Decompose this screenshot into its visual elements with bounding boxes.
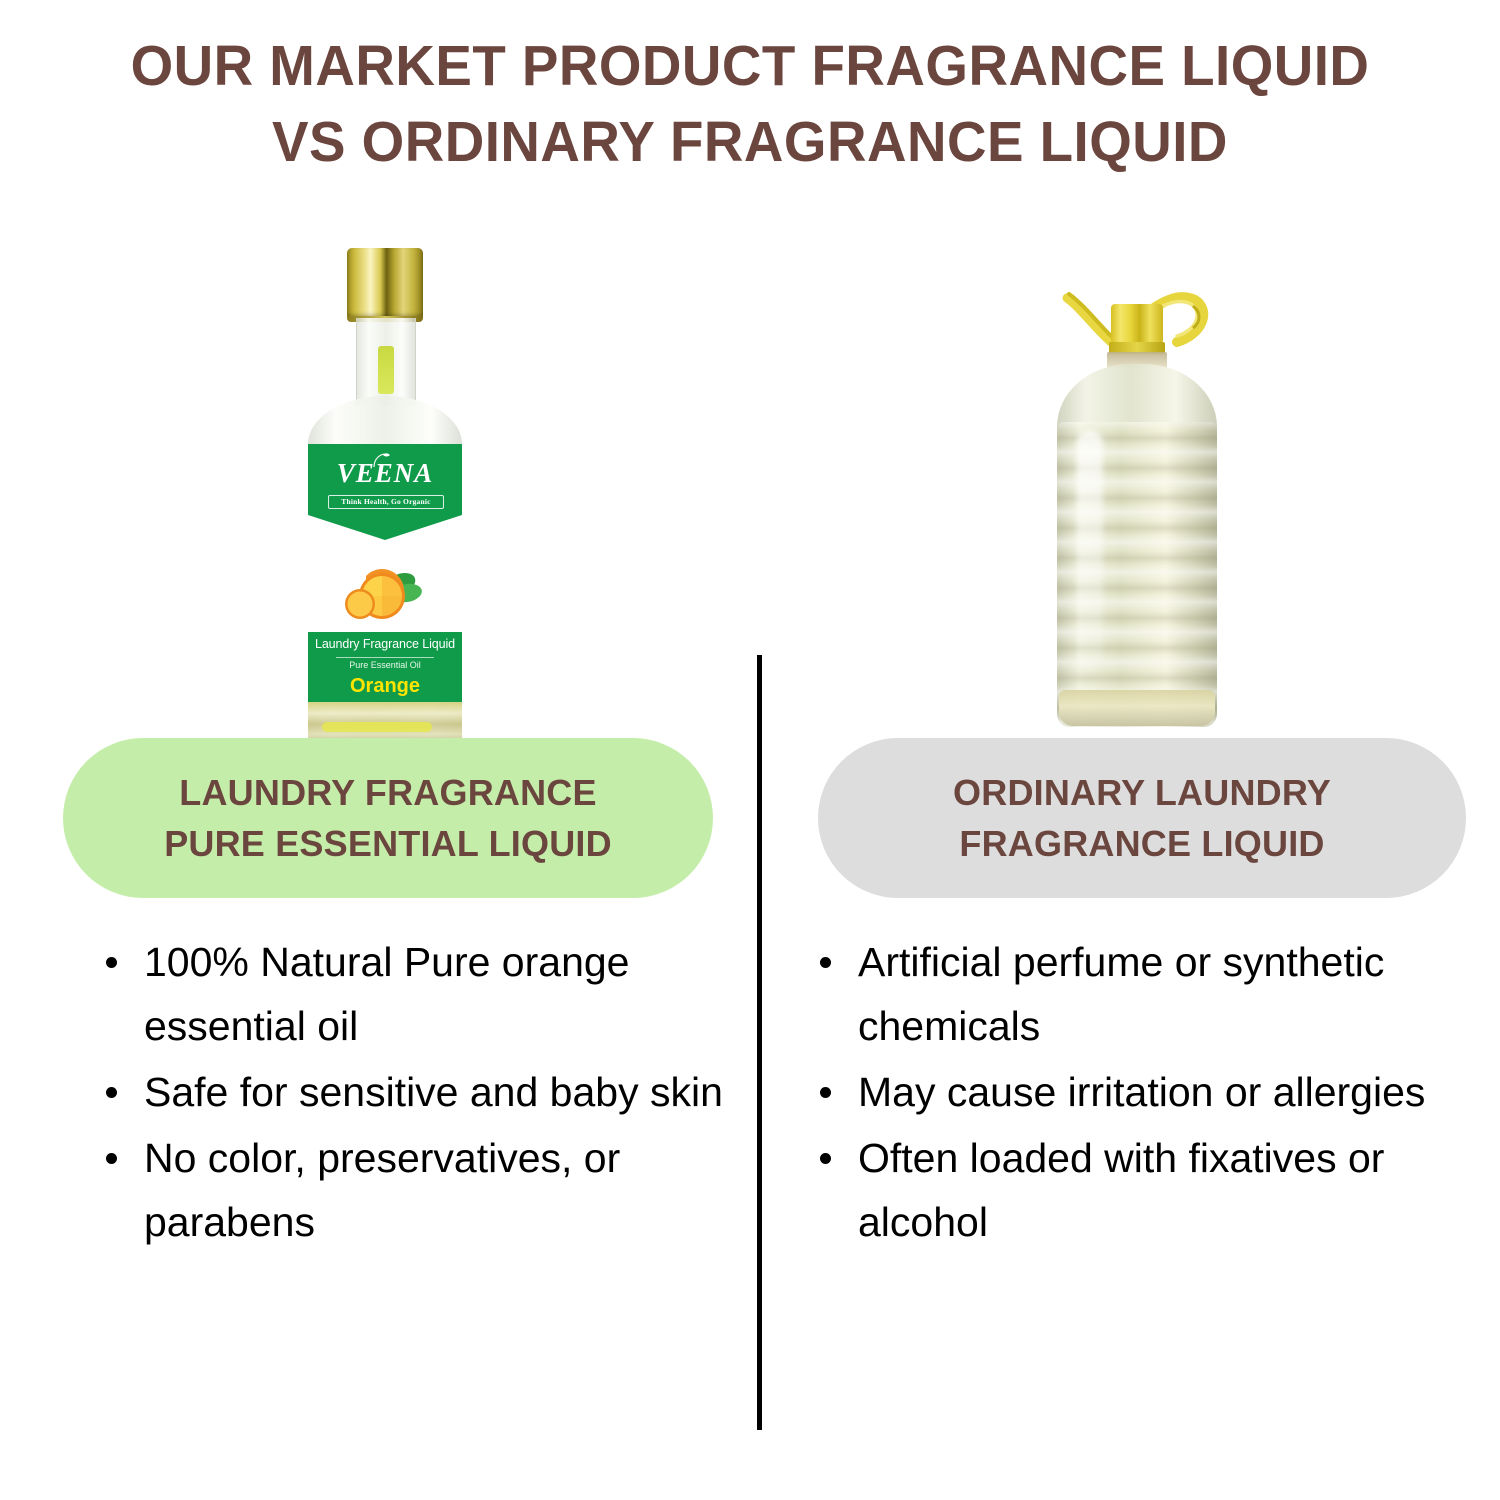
jerry-can-base	[1059, 690, 1215, 726]
label-green-footer: Laundry Fragrance Liquid Pure Essential …	[308, 632, 462, 702]
list-item: Often loaded with fixatives or alcohol	[810, 1126, 1470, 1254]
left-badge-line-1: LAUNDRY FRAGRANCE	[179, 767, 596, 818]
right-badge-line-2: FRAGRANCE LIQUID	[959, 818, 1324, 869]
orange-slice-icon	[308, 548, 462, 630]
label-tagline: Think Health, Go Organic	[328, 495, 444, 509]
right-badge: ORDINARY LAUNDRY FRAGRANCE LIQUID	[818, 738, 1466, 898]
bottle-label: VEENA Think Health, Go Organic	[308, 444, 462, 702]
list-item: Safe for sensitive and baby skin	[96, 1060, 756, 1124]
jerry-can-cap-icon	[1111, 304, 1163, 344]
plastic-jerry-can-image	[1035, 270, 1235, 740]
list-item: No color, preservatives, or parabens	[96, 1126, 756, 1254]
left-badge: LAUNDRY FRAGRANCE PURE ESSENTIAL LIQUID	[63, 738, 713, 898]
right-badge-line-1: ORDINARY LAUNDRY	[953, 767, 1331, 818]
left-bullet-list: 100% Natural Pure orange essential oil S…	[96, 930, 756, 1256]
list-item: 100% Natural Pure orange essential oil	[96, 930, 756, 1058]
list-item: May cause irritation or allergies	[810, 1060, 1470, 1124]
bottle-gold-cap-icon	[347, 248, 423, 318]
label-product-name: Laundry Fragrance Liquid	[308, 637, 462, 651]
left-badge-line-2: PURE ESSENTIAL LIQUID	[164, 818, 612, 869]
label-subtitle: Pure Essential Oil	[308, 660, 462, 670]
bottle-neck-oil	[378, 346, 394, 394]
left-product-stage: VEENA Think Health, Go Organic	[0, 230, 750, 740]
right-column: ORDINARY LAUNDRY FRAGRANCE LIQUID Artifi…	[750, 0, 1500, 1500]
right-bullet-list: Artificial perfume or synthetic chemical…	[810, 930, 1470, 1256]
comparison-infographic: OUR MARKET PRODUCT FRAGRANCE LIQUID VS O…	[0, 0, 1500, 1500]
label-divider-rule	[336, 657, 434, 658]
right-product-stage	[750, 230, 1500, 740]
bottle-neck	[356, 318, 416, 406]
jerry-can-body	[1057, 422, 1217, 727]
left-column: VEENA Think Health, Go Organic	[0, 0, 750, 1500]
label-variant-name: Orange	[308, 675, 462, 698]
glass-bottle-image: VEENA Think Health, Go Organic	[300, 248, 470, 748]
label-brand-name: VEENA	[308, 458, 462, 489]
list-item: Artificial perfume or synthetic chemical…	[810, 930, 1470, 1058]
